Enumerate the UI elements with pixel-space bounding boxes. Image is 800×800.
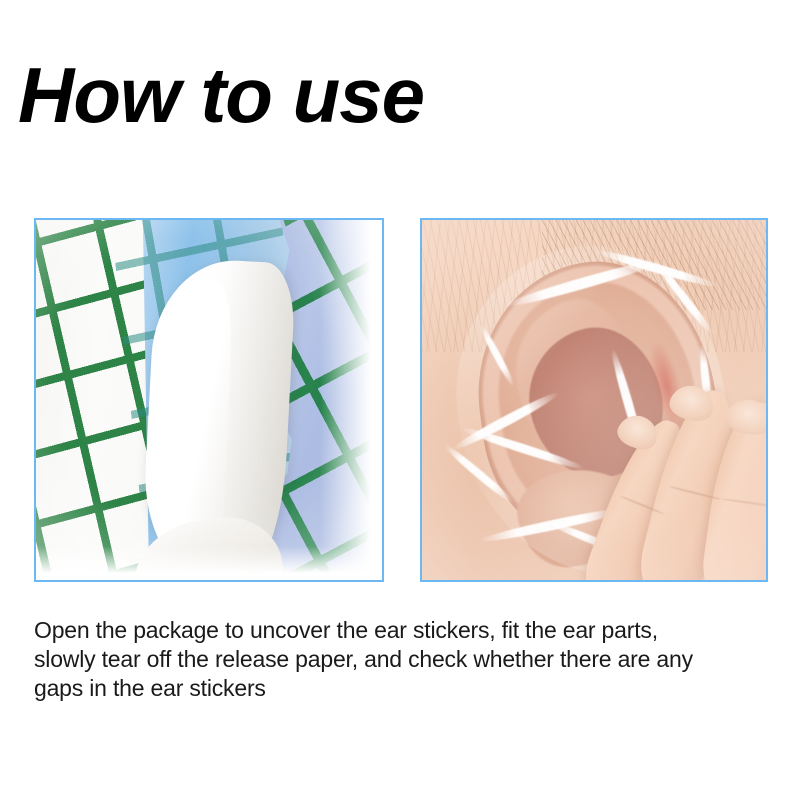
caption-line-3: gaps in the ear stickers bbox=[34, 674, 774, 703]
package-photo-bottom-fade bbox=[36, 546, 382, 580]
package-opening-photo: 2 Do Not bbox=[36, 220, 382, 580]
ear-application-photo-panel bbox=[420, 218, 768, 582]
package-photo-right-fade bbox=[320, 220, 382, 580]
page-title: How to use bbox=[18, 52, 424, 138]
caption-line-1: Open the package to uncover the ear stic… bbox=[34, 616, 774, 645]
ear-application-photo bbox=[422, 220, 766, 580]
package-opening-photo-panel: 2 Do Not bbox=[34, 218, 384, 582]
instruction-caption: Open the package to uncover the ear stic… bbox=[34, 616, 774, 703]
instruction-page: How to use 2 Do Not bbox=[0, 0, 800, 800]
caption-line-2: slowly tear off the release paper, and c… bbox=[34, 645, 774, 674]
